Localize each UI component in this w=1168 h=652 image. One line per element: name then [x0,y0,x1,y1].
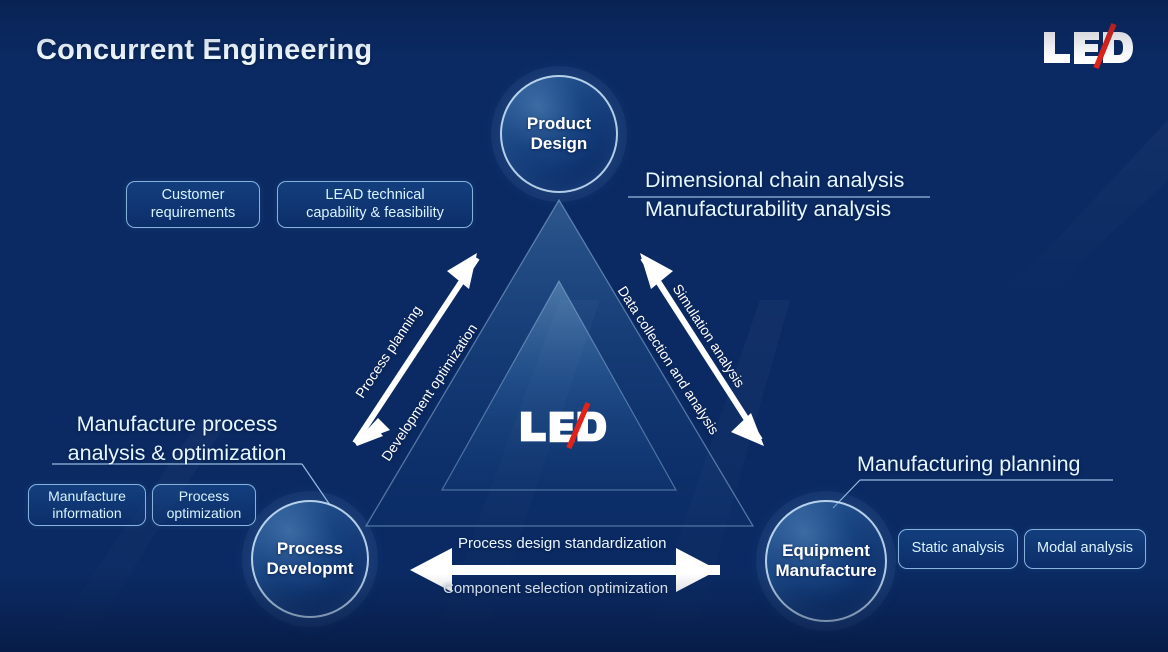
page-title: Concurrent Engineering [36,34,372,67]
callout-product-line1: Dimensional chain analysis [645,168,904,192]
callout-equipment-line1: Manufacturing planning [857,452,1081,476]
pill-static-analysis[interactable]: Static analysis [898,529,1018,569]
node-process-development-line2: Developmt [267,559,354,578]
callout-process-line2: analysis & optimization [52,439,302,468]
node-equipment-manufacture-line2: Manufacture [775,561,876,580]
pill-modal-analysis-label: Modal analysis [1037,540,1133,557]
node-process-development-line1: Process [277,539,343,558]
node-product-design-line1: Product [527,114,591,133]
lead-brand-logo [1042,22,1138,72]
callout-process-line1: Manufacture process [77,412,278,436]
pill-process-optimization-line1: Process [179,488,230,504]
pill-lead-technical-line2: capability & feasibility [306,205,444,221]
callout-process-development: Manufacture process analysis & optimizat… [52,410,302,468]
pill-manufacture-information-line1: Manufacture [48,488,126,504]
pill-manufacture-information-line2: information [52,505,121,521]
pill-process-optimization[interactable]: Process optimization [152,484,256,526]
arrow-bottom-top-label: Process design standardization [458,535,666,552]
node-product-design[interactable]: Product Design [500,75,618,193]
pill-lead-technical-line1: LEAD technical [325,187,424,203]
outer-triangle [366,200,753,526]
node-equipment-manufacture-line1: Equipment [782,541,870,560]
pill-process-optimization-line2: optimization [167,505,242,521]
pill-customer-requirements[interactable]: Customer requirements [126,181,260,228]
pill-lead-technical[interactable]: LEAD technical capability & feasibility [277,181,473,228]
callout-equipment-manufacture: Manufacturing planning [857,450,1081,479]
callout-product-design: Dimensional chain analysis Manufacturabi… [645,166,904,224]
connector-process-to-node [302,464,330,505]
pill-customer-requirements-line2: requirements [151,205,236,221]
arrow-left-outer-label: Process planning [352,302,425,400]
node-equipment-manufacture[interactable]: Equipment Manufacture [765,500,887,622]
pill-static-analysis-label: Static analysis [912,540,1005,557]
arrow-right-inner-label: Data collection and analysis [615,283,723,437]
pill-customer-requirements-line1: Customer [162,187,225,203]
center-lead-logo [519,402,611,450]
slide-canvas: Concurrent Engineering Product Design Pr… [0,0,1168,652]
callout-product-line2: Manufacturability analysis [645,195,904,224]
pill-manufacture-information[interactable]: Manufacture information [28,484,146,526]
arrow-bottom-bottom-label: Component selection optimization [443,580,668,597]
node-product-design-line2: Design [531,134,588,153]
pill-modal-analysis[interactable]: Modal analysis [1024,529,1146,569]
node-process-development[interactable]: Process Developmt [251,500,369,618]
